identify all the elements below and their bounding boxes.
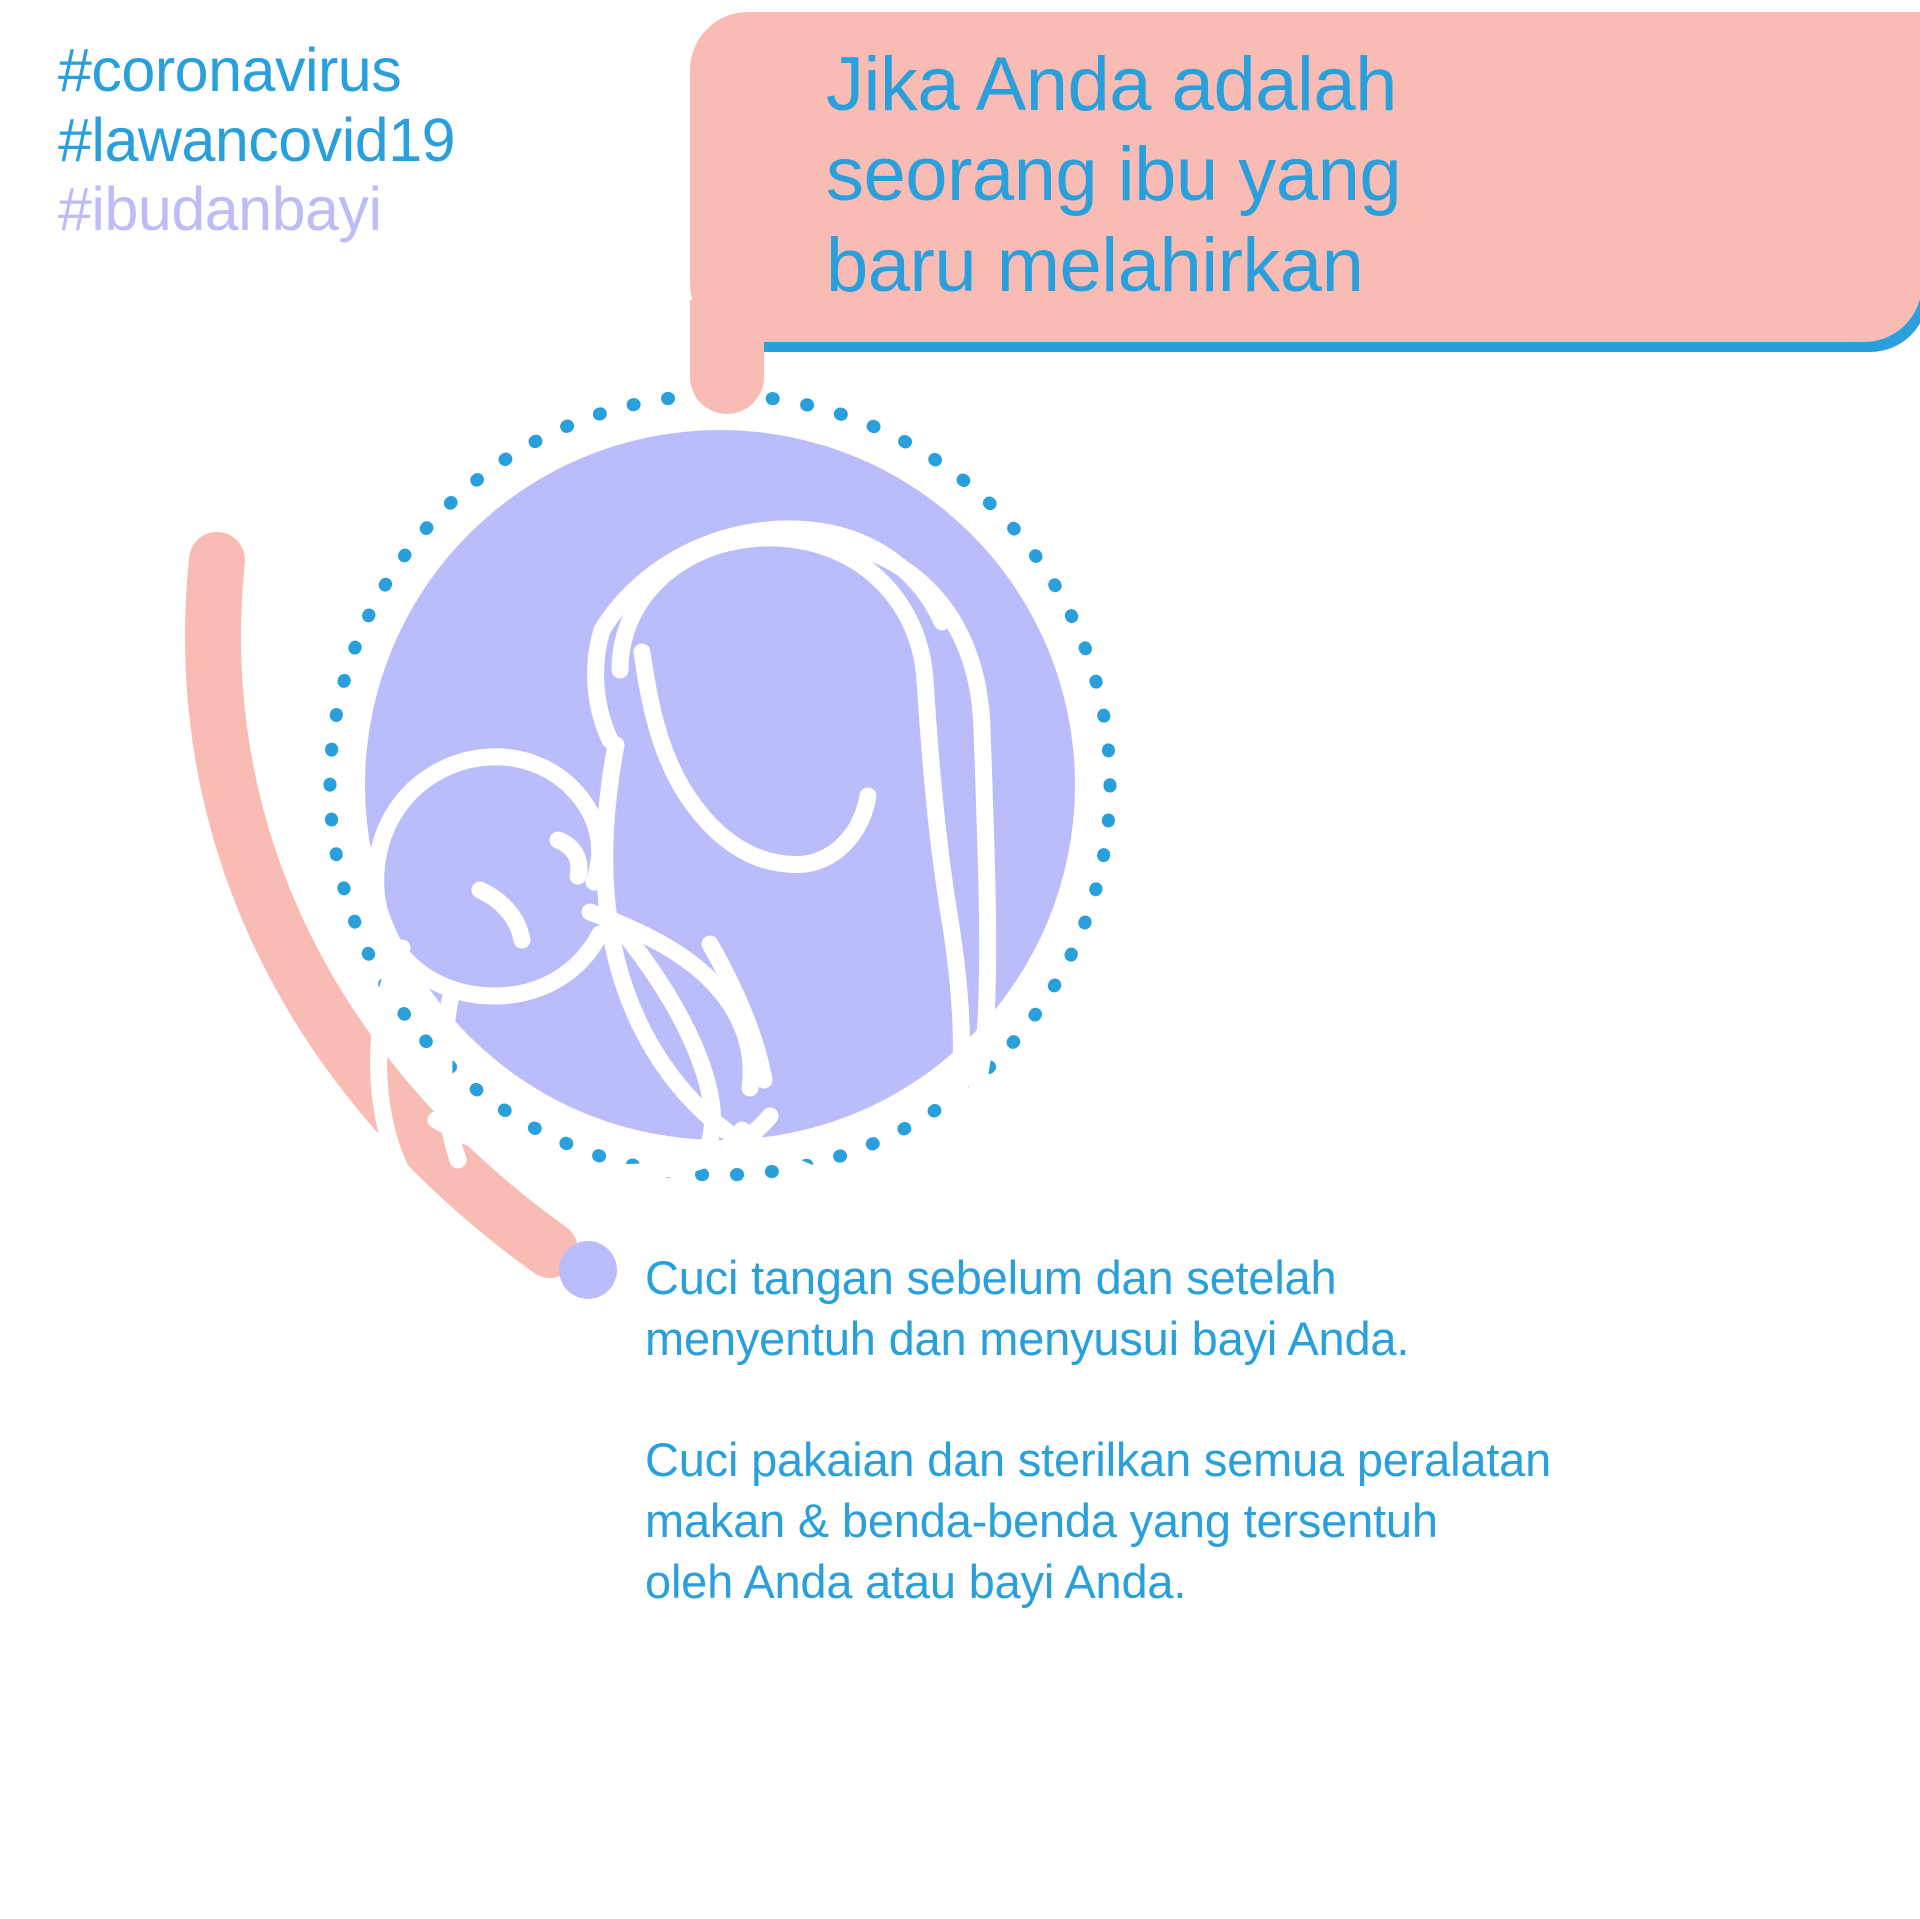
tip-1-line-2: menyentuh dan menyusui bayi Anda. xyxy=(645,1308,1735,1369)
speech-bubble-line-1: Jika Anda adalah xyxy=(826,40,1920,130)
hashtag-lawancovid19[interactable]: #lawancovid19 xyxy=(58,106,455,176)
tip-2-line-2: makan & benda-benda yang tersentuh xyxy=(645,1490,1735,1551)
poster-canvas: #coronavirus #lawancovid19 #ibudanbayi xyxy=(0,0,1920,1919)
tips-text-block: Cuci tangan sebelum dan setelah menyentu… xyxy=(645,1247,1735,1612)
tip-item-1: Cuci tangan sebelum dan setelah menyentu… xyxy=(645,1247,1735,1369)
tip-2-line-1: Cuci pakaian dan sterilkan semua peralat… xyxy=(645,1429,1735,1490)
speech-bubble-line-2: seorang ibu yang xyxy=(826,130,1920,220)
bullet-dot-icon xyxy=(548,1230,628,1310)
speech-bubble-text: Jika Anda adalah seorang ibu yang baru m… xyxy=(826,40,1920,311)
tip-item-2: Cuci pakaian dan sterilkan semua peralat… xyxy=(645,1429,1735,1612)
speech-bubble-line-3: baru melahirkan xyxy=(826,221,1920,311)
tip-1-line-1: Cuci tangan sebelum dan setelah xyxy=(645,1247,1735,1308)
tip-2-line-3: oleh Anda atau bayi Anda. xyxy=(645,1551,1735,1612)
hashtag-coronavirus[interactable]: #coronavirus xyxy=(58,36,455,106)
speech-bubble: Jika Anda adalah seorang ibu yang baru m… xyxy=(676,0,1920,420)
